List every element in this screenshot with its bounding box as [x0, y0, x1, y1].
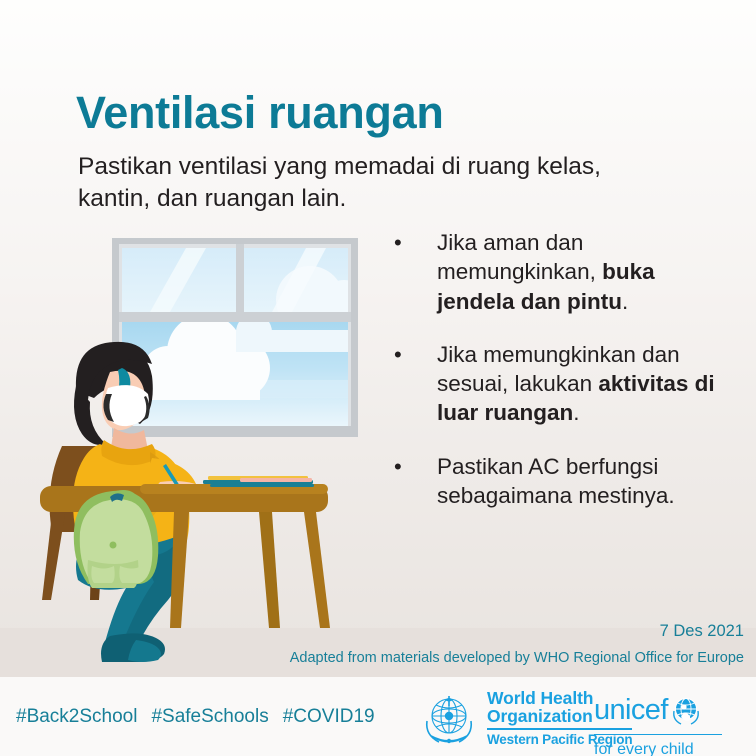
list-item: • Jika memungkinkan dan sesuai, lakukan … [390, 340, 720, 428]
bullet-icon: • [394, 229, 402, 258]
attribution-text: Adapted from materials developed by WHO … [290, 650, 744, 666]
hashtag-back2school[interactable]: #Back2School [16, 706, 137, 727]
bullet-icon: • [394, 341, 402, 370]
footer-bar: #Back2School#SafeSchools#COVID19 [0, 677, 756, 756]
hashtag-safeschools[interactable]: #SafeSchools [151, 706, 268, 727]
tips-list: • Jika aman dan memungkinkan, buka jende… [390, 228, 720, 510]
bullet-icon: • [394, 453, 402, 482]
backpack-graphic [74, 491, 159, 588]
unicef-wordmark: unicef [594, 696, 668, 725]
list-item-tail: . [622, 289, 628, 314]
unicef-logo: unicef [594, 695, 722, 756]
poster-canvas: Ventilasi ruangan Pastikan ventilasi yan… [0, 0, 756, 756]
who-emblem-icon [419, 691, 479, 745]
unicef-tagline: for every child [594, 734, 722, 756]
list-item: • Pastikan AC berfungsi sebagaimana mest… [390, 452, 720, 511]
list-item-lead: Jika aman dan memungkinkan, [437, 230, 602, 284]
list-item: • Jika aman dan memungkinkan, buka jende… [390, 228, 720, 316]
list-item-lead: Pastikan AC berfungsi sebagaimana mestin… [437, 454, 675, 508]
publication-date: 7 Des 2021 [660, 622, 744, 641]
unicef-emblem-icon [671, 695, 701, 725]
page-title: Ventilasi ruangan [76, 88, 444, 138]
page-subtitle: Pastikan ventilasi yang memadai di ruang… [78, 151, 678, 216]
hashtag-covid19[interactable]: #COVID19 [283, 706, 375, 727]
hashtag-group: #Back2School#SafeSchools#COVID19 [16, 706, 375, 728]
list-item-tail: . [573, 400, 579, 425]
unicef-wordmark-row: unicef [594, 695, 722, 725]
